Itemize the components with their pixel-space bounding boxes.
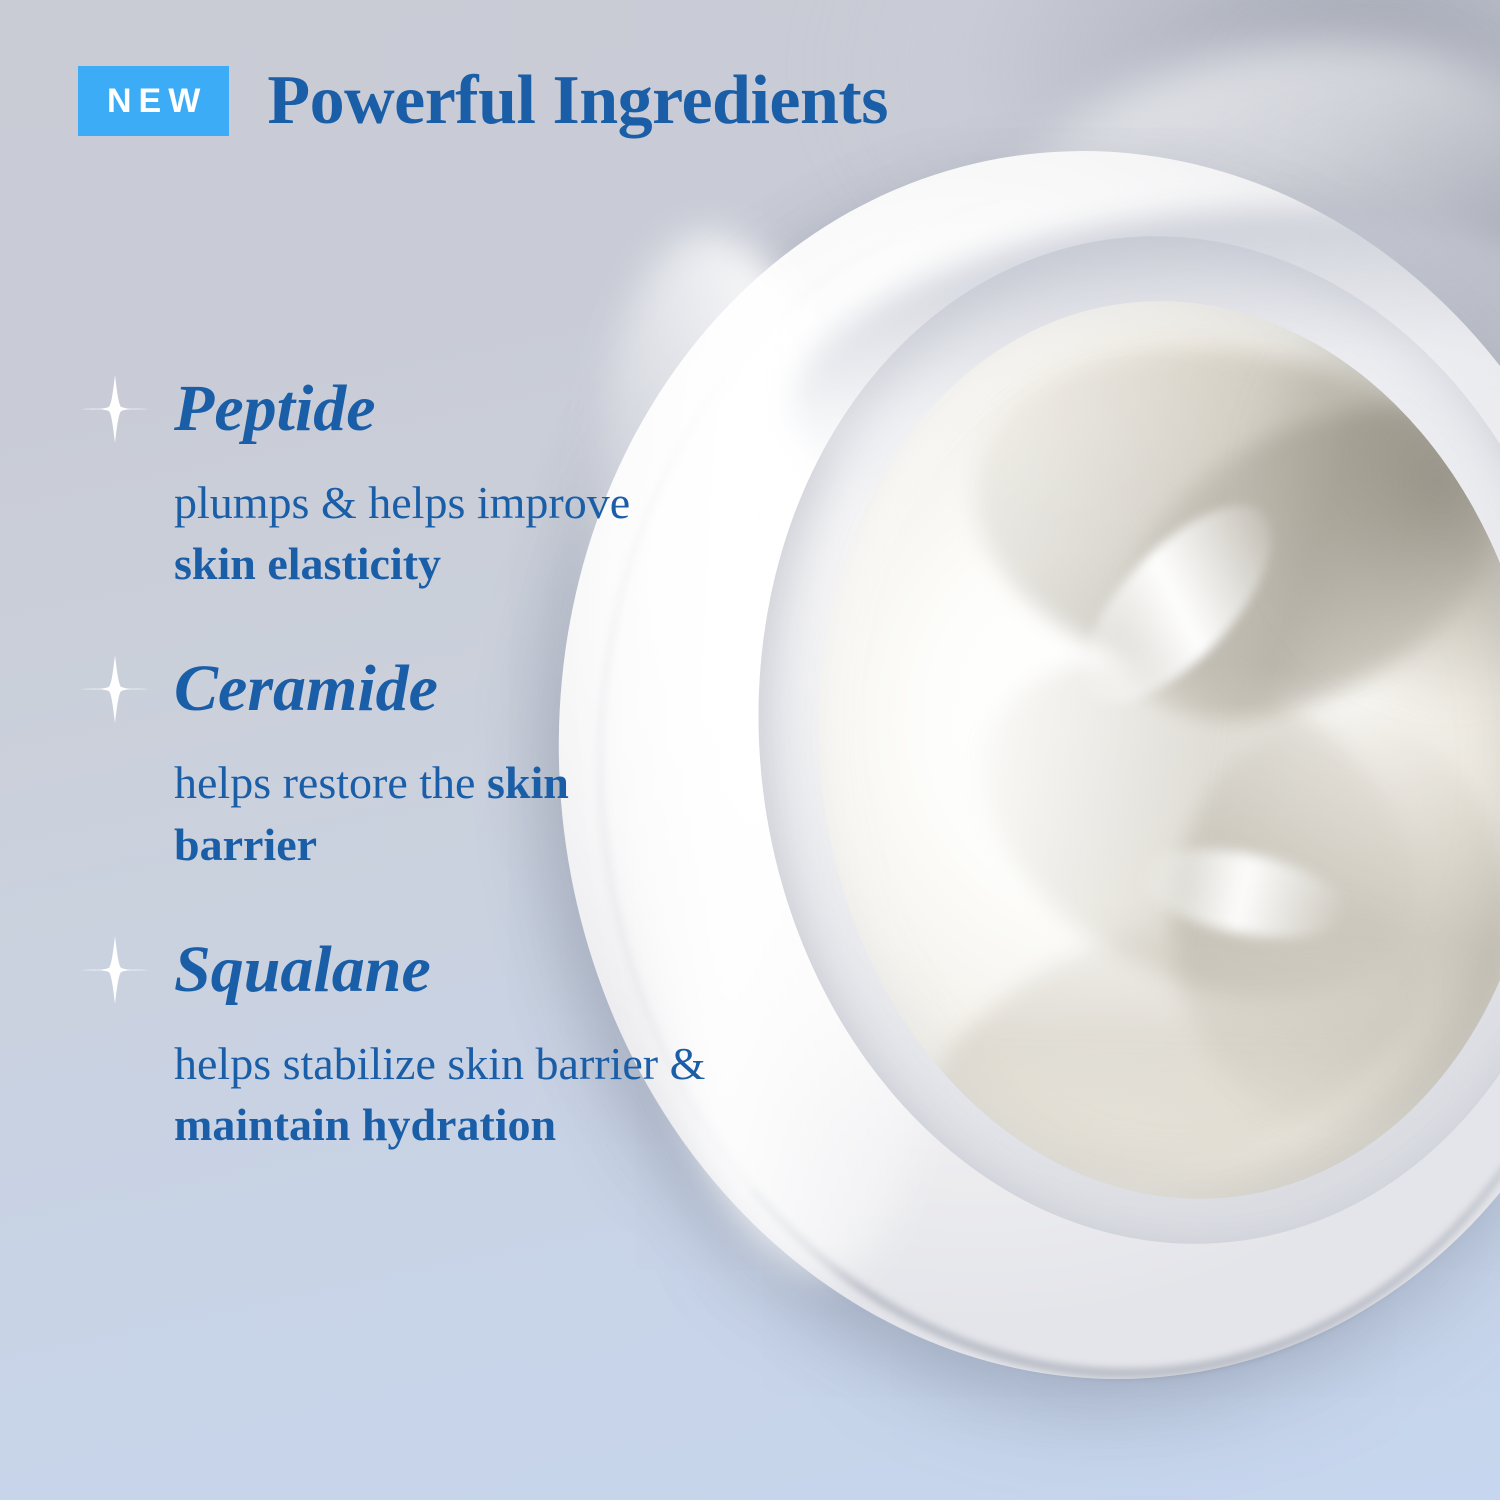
description-plain: helps stabilize skin barrier & <box>174 1038 705 1089</box>
cream-swirl <box>1061 343 1500 782</box>
page-title: Powerful Ingredients <box>267 66 888 136</box>
new-badge: NEW <box>78 66 229 136</box>
cream-swirl <box>927 590 1473 1066</box>
header: NEW Powerful Ingredients <box>78 66 888 136</box>
description-emphasis: skin elasticity <box>174 538 441 589</box>
cream-surface <box>768 259 1500 1240</box>
ingredient-item-peptide: Peptide plumps & helps improve skin elas… <box>78 372 718 594</box>
sparkle-icon <box>78 372 152 446</box>
ingredient-name: Squalane <box>174 937 431 1003</box>
description-plain: helps restore the <box>174 757 487 808</box>
description-plain: plumps & helps improve <box>174 477 630 528</box>
ingredient-description: plumps & helps improve skin elasticity <box>174 472 714 594</box>
cream-gloss-highlight <box>1132 834 1353 953</box>
ingredient-item-ceramide: Ceramide helps restore the skin barrier <box>78 652 718 874</box>
cream-swirl <box>891 845 1461 1241</box>
sparkle-icon <box>78 652 152 726</box>
ingredient-description: helps restore the skin barrier <box>174 752 714 874</box>
ingredient-name: Ceramide <box>174 656 438 722</box>
ingredient-description: helps stabilize skin barrier & maintain … <box>174 1033 714 1155</box>
ingredient-heading: Ceramide <box>78 652 718 726</box>
photo-backdrop-highlight <box>980 40 1500 460</box>
cream-swirl <box>949 313 1500 720</box>
jar-inner-wall <box>702 188 1500 1292</box>
ingredient-heading: Peptide <box>78 372 718 446</box>
cream-gloss-highlight <box>1052 475 1303 733</box>
ingredient-heading: Squalane <box>78 933 718 1007</box>
ingredient-name: Peptide <box>174 376 376 442</box>
description-emphasis: maintain hydration <box>174 1099 556 1150</box>
ingredient-list: Peptide plumps & helps improve skin elas… <box>78 372 718 1213</box>
ingredient-item-squalane: Squalane helps stabilize skin barrier & … <box>78 933 718 1155</box>
cream-swirl <box>1168 709 1500 1135</box>
sparkle-icon <box>78 933 152 1007</box>
promo-image: NEW Powerful Ingredients Peptide plumps … <box>0 0 1500 1500</box>
cream-well-shadow <box>1180 259 1500 772</box>
jar-inner-wall-shadow <box>775 168 1500 562</box>
